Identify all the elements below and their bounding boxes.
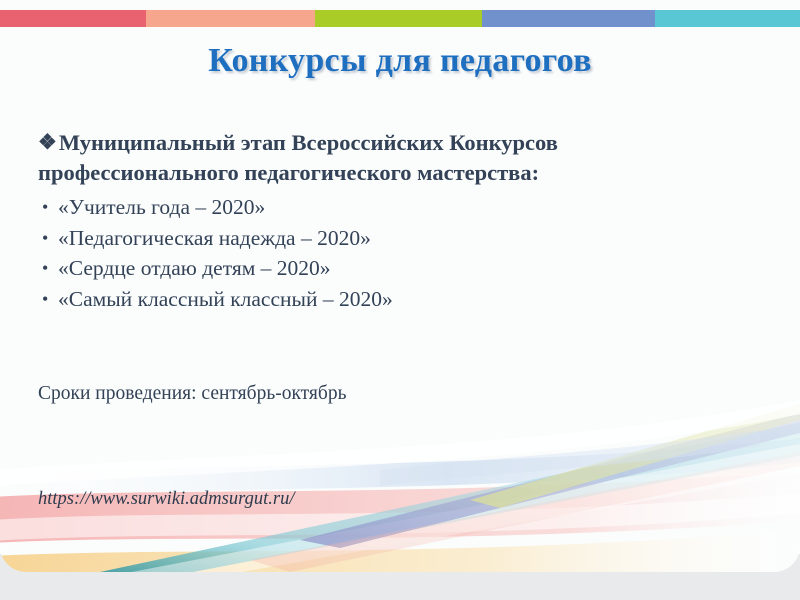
bullet-icon: • bbox=[42, 226, 58, 252]
color-segment-red bbox=[0, 10, 146, 27]
bullet-icon: • bbox=[42, 256, 58, 282]
slide-title: Конкурсы для педагогов bbox=[0, 42, 800, 80]
lead-paragraph: ❖Муниципальный этап Всероссийских Конкур… bbox=[38, 128, 688, 188]
presentation-slide: Конкурсы для педагогов ❖Муниципальный эт… bbox=[0, 0, 800, 600]
list-item: •«Педагогическая надежда – 2020» bbox=[38, 223, 738, 254]
list-item-label: «Педагогическая надежда – 2020» bbox=[58, 226, 371, 250]
lead-line-2: профессионального педагогического мастер… bbox=[38, 160, 539, 185]
list-item-label: «Учитель года – 2020» bbox=[58, 195, 265, 219]
list-item-label: «Сердце отдаю детям – 2020» bbox=[58, 256, 331, 280]
slide-content: ❖Муниципальный этап Всероссийских Конкур… bbox=[38, 128, 738, 315]
bullet-icon: • bbox=[42, 287, 58, 313]
color-segment-green bbox=[315, 10, 482, 27]
source-url[interactable]: https://www.surwiki.admsurgut.ru/ bbox=[38, 489, 294, 510]
list-item-label: «Самый классный классный – 2020» bbox=[58, 287, 393, 311]
top-color-bar bbox=[0, 10, 800, 27]
color-segment-salmon bbox=[146, 10, 315, 27]
diamond-bullet-icon: ❖ bbox=[38, 130, 57, 154]
bullet-icon: • bbox=[42, 195, 58, 221]
list-item: •«Сердце отдаю детям – 2020» bbox=[38, 253, 738, 284]
competition-list: •«Учитель года – 2020» •«Педагогическая … bbox=[38, 192, 738, 315]
color-segment-teal bbox=[655, 10, 800, 27]
lead-line-1: Муниципальный этап Всероссийских Конкурс… bbox=[59, 130, 558, 155]
list-item: •«Учитель года – 2020» bbox=[38, 192, 738, 223]
list-item: •«Самый классный классный – 2020» bbox=[38, 284, 738, 315]
color-segment-blue bbox=[482, 10, 655, 27]
schedule-text: Сроки проведения: сентябрь-октябрь bbox=[38, 383, 346, 405]
